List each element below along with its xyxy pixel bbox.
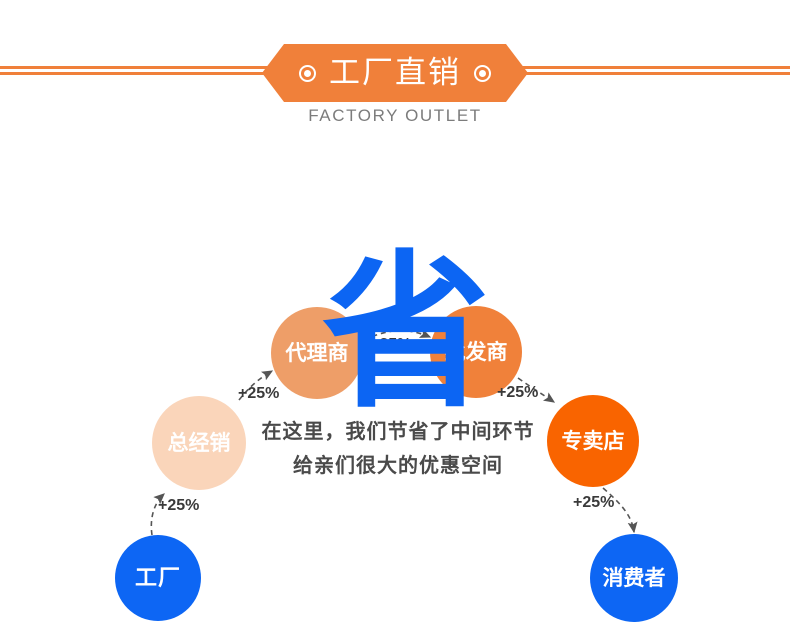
markup-label-store-to-consumer: +25% xyxy=(573,494,614,512)
node-label: 工厂 xyxy=(135,567,181,589)
donut-circle-ornament-left xyxy=(299,65,316,82)
donut-circle-ornament-right xyxy=(474,65,491,82)
markup-label-general-distributor-to-agent: +25% xyxy=(238,385,279,403)
banner: 工厂直销 FACTORY OUTLET xyxy=(0,44,790,134)
node-factory[interactable]: 工厂 xyxy=(115,535,201,621)
page-root: 工厂直销 FACTORY OUTLET xyxy=(0,0,790,549)
center-savings-character: 省 xyxy=(322,248,472,418)
rule-line-bottom xyxy=(0,72,290,75)
node-consumer[interactable]: 消费者 xyxy=(590,534,678,622)
rule-line-top xyxy=(522,66,790,69)
markup-label-wholesaler-to-store: +25% xyxy=(497,384,538,402)
tagline-line-2: 给亲们很大的优惠空间 xyxy=(228,449,568,483)
supply-chain-diagram: 总经销 代理商 批发商 专卖店 工厂 消费者 +25% +25% +25% +2… xyxy=(0,130,790,549)
node-label: 消费者 xyxy=(603,568,666,589)
tagline: 在这里，我们节省了中间环节 给亲们很大的优惠空间 xyxy=(228,415,568,483)
banner-title-group: 工厂直销 xyxy=(262,44,528,102)
markup-label-factory-to-general-distributor: +25% xyxy=(158,497,199,515)
rule-line-bottom xyxy=(522,72,790,75)
node-label: 专卖店 xyxy=(562,431,625,452)
node-label: 总经销 xyxy=(168,433,231,454)
tagline-line-1: 在这里，我们节省了中间环节 xyxy=(228,415,568,449)
banner-subtitle: FACTORY OUTLET xyxy=(0,106,790,126)
rule-line-top xyxy=(0,66,290,69)
banner-title-text: 工厂直销 xyxy=(325,57,465,88)
